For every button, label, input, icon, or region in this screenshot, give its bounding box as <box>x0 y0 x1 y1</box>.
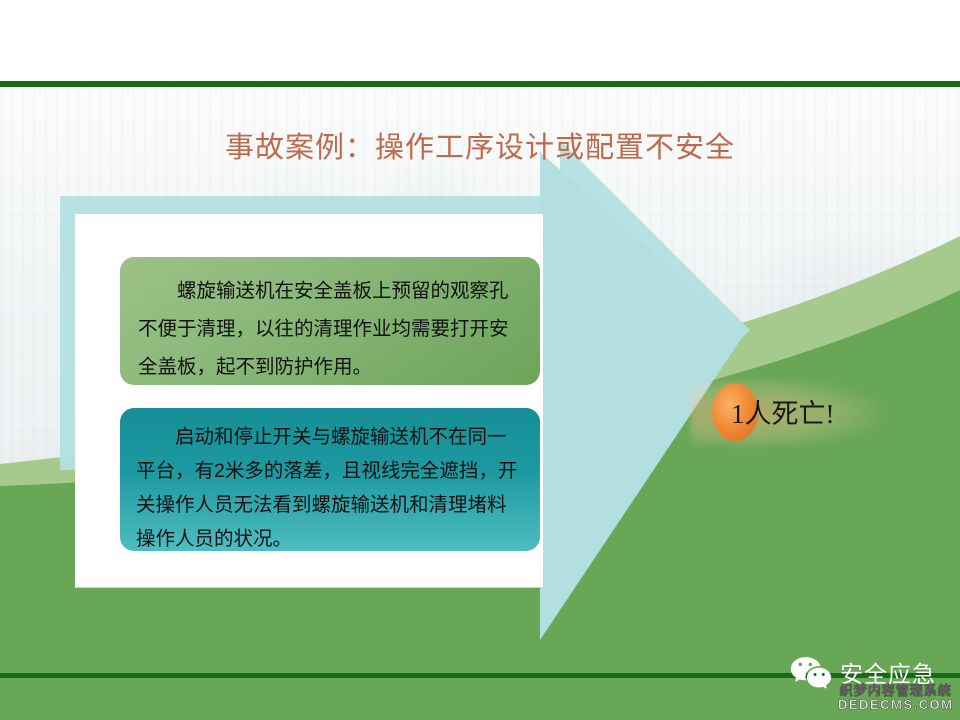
watermark-cn: 织梦内容管理系统 <box>838 684 953 698</box>
content-box-teal: 启动和停止开关与螺旋输送机不在同一平台，有2米多的落差，且视线完全遮挡，开关操作… <box>120 408 540 551</box>
wechat-icon-front-bubble <box>807 668 831 689</box>
page-title: 事故案例：操作工序设计或配置不安全 <box>0 124 960 166</box>
slide-canvas: 事故案例：操作工序设计或配置不安全 螺旋输送机在安全盖板上预留的观察孔不便于清理… <box>0 0 960 720</box>
wechat-icon <box>790 655 832 689</box>
content-box-teal-text: 启动和停止开关与螺旋输送机不在同一平台，有2米多的落差，且视线完全遮挡，开关操作… <box>136 420 520 556</box>
content-box-green-text: 螺旋输送机在安全盖板上预留的观察孔不便于清理，以往的清理作业均需要打开安全盖板，… <box>138 272 518 386</box>
content-box-green: 螺旋输送机在安全盖板上预留的观察孔不便于清理，以往的清理作业均需要打开安全盖板，… <box>120 257 540 385</box>
fatality-label: 1人死亡! <box>731 392 835 431</box>
watermark: 织梦内容管理系统 DEDECMS.COM <box>838 684 953 711</box>
watermark-en: DEDECMS.COM <box>838 698 953 712</box>
